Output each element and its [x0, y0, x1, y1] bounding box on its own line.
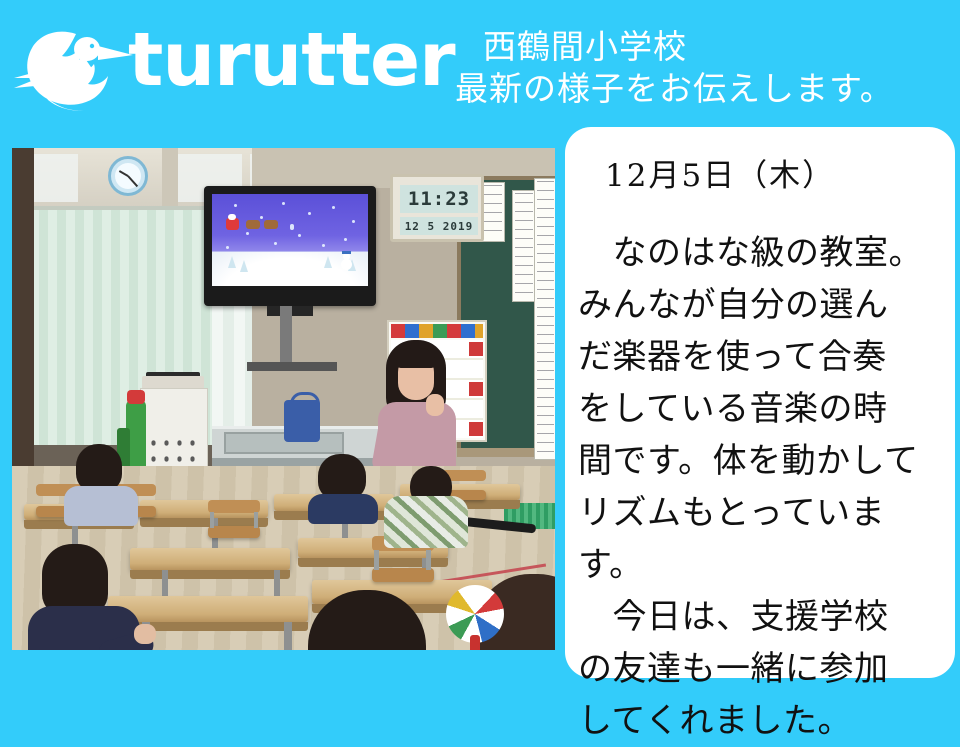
snowflake — [246, 232, 249, 235]
school-bag — [284, 400, 320, 442]
snowflake — [352, 220, 355, 223]
monitor-pole — [280, 306, 292, 366]
snowflake — [298, 234, 301, 237]
calendar-header — [391, 324, 483, 338]
student-figure — [300, 590, 450, 650]
snowflake — [290, 224, 294, 230]
student-figure — [64, 444, 138, 524]
site-header: turutter 西鶴間小学校 最新の様子をお伝えします。 — [0, 0, 960, 126]
teacher-fringe — [396, 348, 436, 368]
digital-clock-date: 12 5 2019 — [400, 217, 478, 235]
student-figure — [28, 544, 148, 650]
digital-clock-time: 11:23 — [400, 185, 478, 213]
student-hand — [134, 624, 156, 644]
calendar-marker — [469, 422, 483, 436]
santa-sleigh — [226, 216, 282, 232]
maraca-instrument — [446, 585, 504, 650]
student-chair — [208, 526, 260, 538]
article-date: 12月5日（木） — [605, 157, 835, 195]
student-torso — [308, 494, 378, 524]
chart-lines — [515, 193, 533, 299]
calendar-marker — [469, 342, 483, 356]
santa-figure — [226, 218, 239, 230]
chart-lines — [537, 181, 554, 457]
calendar-marker — [469, 382, 483, 396]
left-wall-panel — [12, 148, 34, 468]
snowflake — [344, 238, 347, 241]
student-desk — [130, 548, 290, 570]
photo-inner: 11:23 12 5 2019 — [12, 148, 555, 650]
student-figure — [384, 466, 468, 544]
desk-leg — [284, 622, 292, 650]
chair-frame — [426, 550, 431, 570]
digital-clock: 11:23 12 5 2019 — [390, 174, 484, 242]
tagline: 最新の様子をお伝えします。 — [455, 68, 925, 110]
teacher-hand-right — [426, 394, 444, 416]
snow-tree — [324, 256, 332, 268]
student-head — [76, 444, 122, 492]
school-name: 西鶴間小学校 — [455, 26, 925, 68]
snowflake — [226, 246, 229, 249]
window-mullion — [162, 148, 178, 210]
snowman-head — [343, 253, 350, 260]
student-chair — [372, 568, 434, 582]
student-torso — [64, 486, 138, 526]
snow-tree — [240, 260, 248, 272]
chair-frame — [254, 512, 258, 528]
student-figure — [308, 454, 378, 518]
snowflake — [274, 242, 277, 245]
wall-chart — [512, 190, 536, 302]
chair-frame — [374, 550, 379, 570]
snow-tree — [228, 256, 236, 268]
student-torso — [384, 496, 468, 548]
snowflake — [322, 244, 325, 247]
snowflake — [332, 206, 335, 209]
chair-back — [208, 500, 260, 513]
desk-edge — [130, 570, 290, 579]
display-monitor — [204, 186, 376, 306]
snowflake — [234, 204, 237, 207]
snowflake — [282, 202, 285, 205]
wall-chart — [534, 178, 555, 460]
page-root: turutter 西鶴間小学校 最新の様子をお伝えします。 — [0, 0, 960, 720]
reindeer — [264, 220, 278, 229]
crane-bird-icon — [14, 22, 140, 114]
snowflake — [308, 212, 311, 215]
student-head — [308, 590, 426, 650]
article-card: 12月5日（木） なのはな級の教室。 みんなが自分の選ん だ楽器を使って合奏 を… — [565, 127, 955, 678]
digital-clock-date-display: 12 5 2019 — [400, 217, 478, 235]
site-wordmark: turutter — [128, 23, 455, 97]
monitor-screen — [212, 194, 368, 286]
monitor-base — [247, 362, 337, 371]
wall-clock-icon — [108, 156, 148, 196]
reindeer — [246, 220, 260, 229]
article-body: なのはな級の教室。 みんなが自分の選ん だ楽器を使って合奏 をしている音楽の時 … — [578, 227, 946, 747]
site-tagline-block: 西鶴間小学校 最新の様子をお伝えします。 — [455, 26, 925, 110]
classroom-photo: 11:23 12 5 2019 — [12, 148, 555, 650]
snowman-figure — [341, 253, 352, 270]
snowman-body — [341, 259, 352, 270]
snowman-hat — [342, 251, 351, 254]
chair-frame — [210, 512, 214, 528]
digital-clock-time-display: 11:23 — [400, 185, 478, 213]
maraca-handle — [470, 635, 480, 650]
